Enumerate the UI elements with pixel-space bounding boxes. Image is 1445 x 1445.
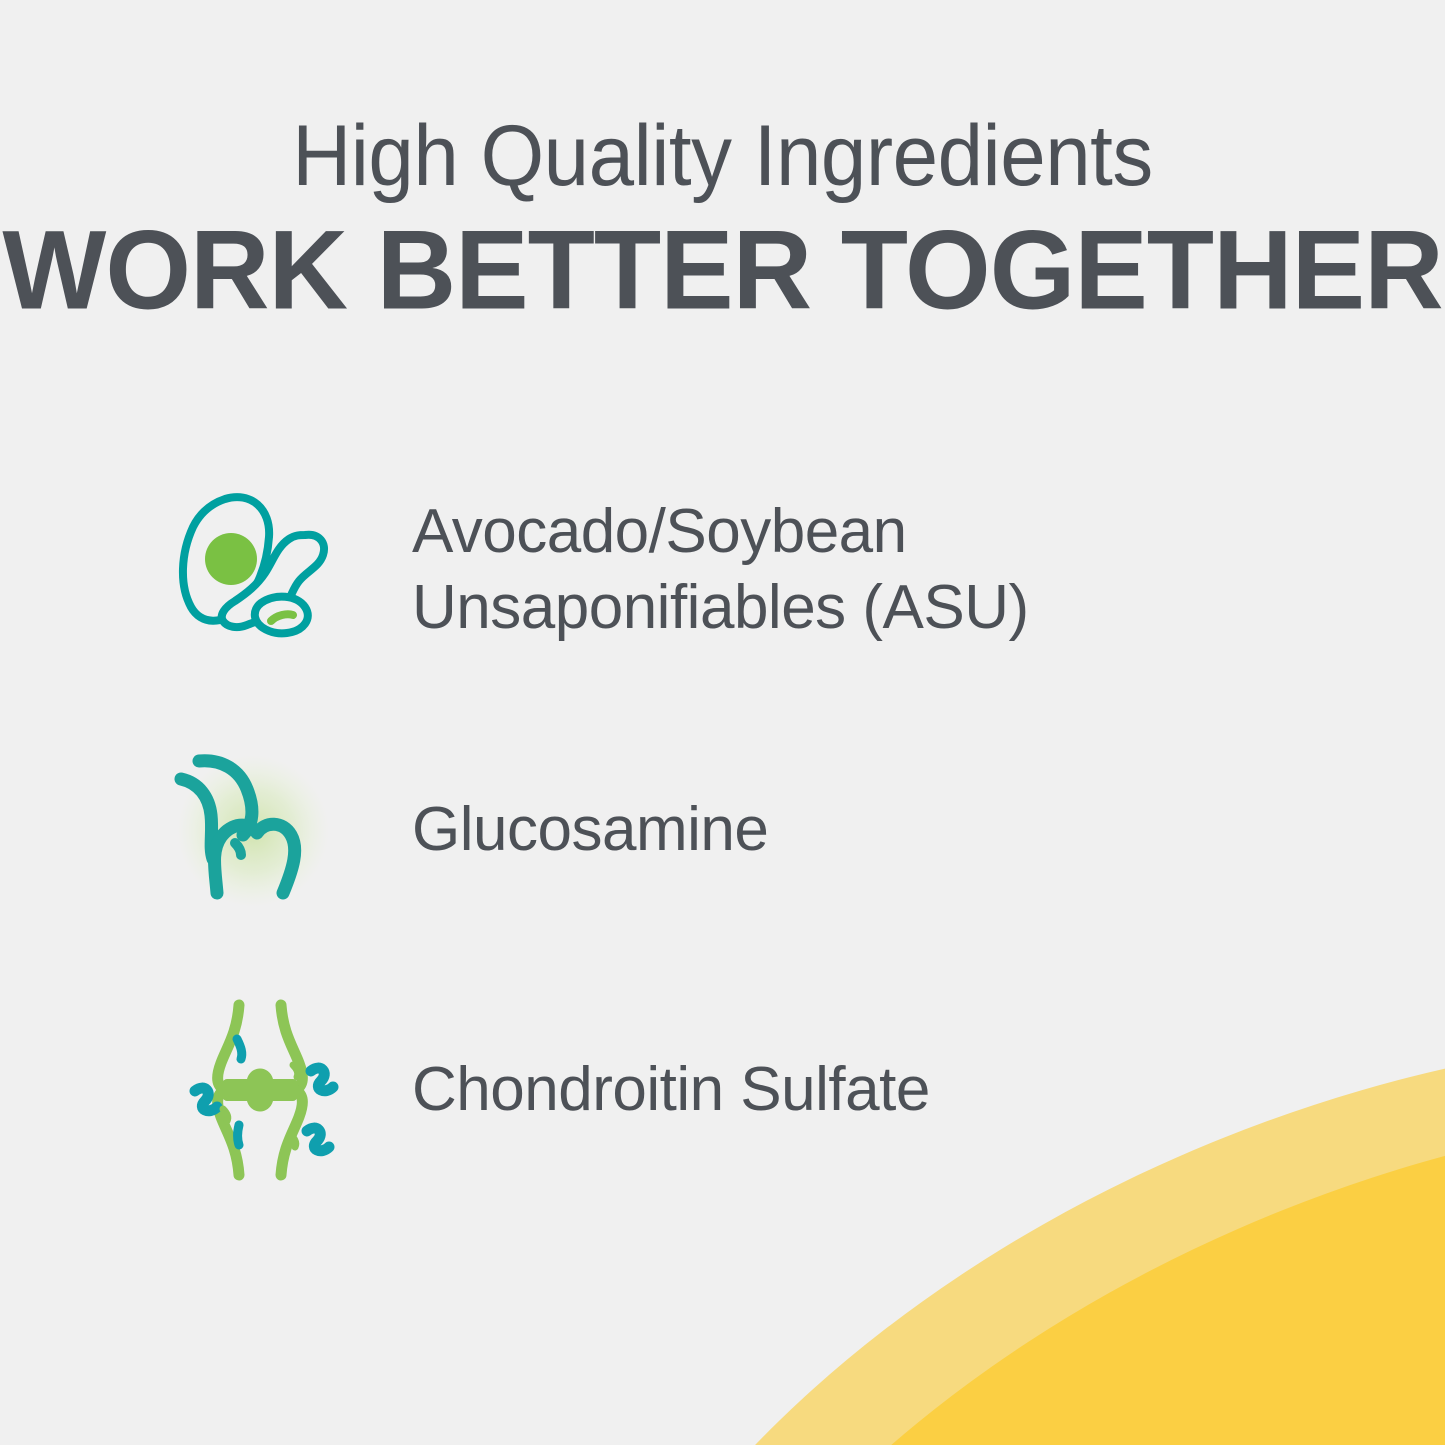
list-item: Chondroitin Sulfate [0, 960, 1445, 1220]
list-item-label: Chondroitin Sulfate [370, 1052, 930, 1128]
list-item: Avocado/Soybean Unsaponifiables (ASU) [0, 440, 1445, 700]
list-item-label: Glucosamine [370, 792, 768, 868]
ingredient-list: Avocado/Soybean Unsaponifiables (ASU) [0, 440, 1445, 1220]
avocado-soybean-icon [150, 470, 370, 670]
infographic-canvas: High Quality Ingredients WORK BETTER TOG… [0, 0, 1445, 1445]
list-item-label: Avocado/Soybean Unsaponifiables (ASU) [370, 494, 1029, 646]
title-line-2: WORK BETTER TOGETHER [0, 212, 1445, 328]
page-title: High Quality Ingredients WORK BETTER TOG… [0, 104, 1445, 326]
label-line-2: Unsaponifiables (ASU) [412, 573, 1029, 642]
joint-molecules-icon [150, 990, 370, 1190]
title-line-1: High Quality Ingredients [36, 104, 1409, 208]
joint-glow-icon [150, 730, 370, 930]
list-item: Glucosamine [0, 700, 1445, 960]
label-line-1: Avocado/Soybean [412, 497, 907, 566]
